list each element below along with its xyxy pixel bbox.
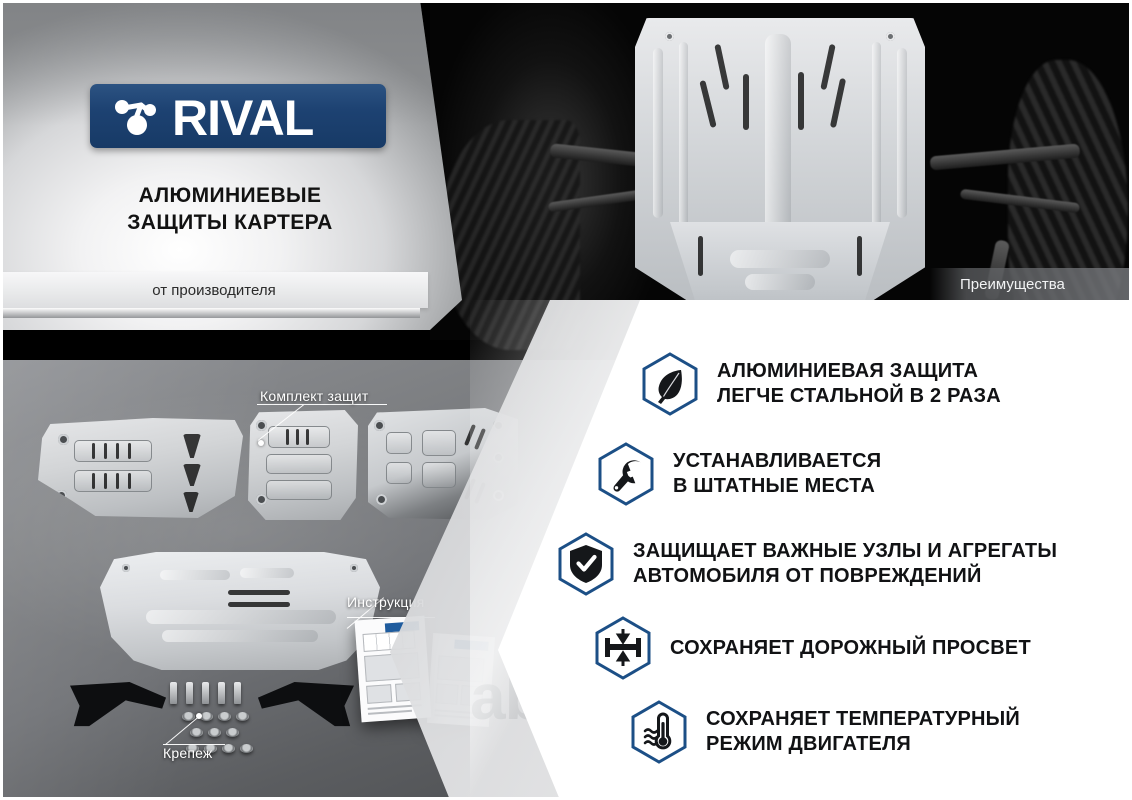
advantage-2-line1: УСТАНАВЛИВАЕТСЯ	[673, 449, 881, 474]
rival-logo: RIVAL	[90, 84, 386, 148]
advantage-text-3: ЗАЩИЩАЕТ ВАЖНЫЕ УЗЛЫ И АГРЕГАТЫ АВТОМОБИ…	[633, 539, 1057, 589]
advantage-text-4: СОХРАНЯЕТ ДОРОЖНЫЙ ПРОСВЕТ	[670, 636, 1031, 661]
advantages-tab: Преимущества	[930, 268, 1132, 300]
promo-banner: Преимущества	[0, 0, 1132, 800]
callout-line-kit-horiz	[257, 404, 387, 405]
advantage-item-4: СОХРАНЯЕТ ДОРОЖНЫЙ ПРОСВЕТ	[594, 616, 1031, 680]
advantage-item-1: АЛЮМИНИЕВАЯ ЗАЩИТА ЛЕГЧЕ СТАЛЬНОЙ В 2 РА…	[641, 352, 1001, 416]
advantage-5-line2: РЕЖИМ ДВИГАТЕЛЯ	[706, 732, 1020, 757]
advantage-1-line1: АЛЮМИНИЕВАЯ ЗАЩИТА	[717, 359, 1001, 384]
advantage-1-line2: ЛЕГЧЕ СТАЛЬНОЙ В 2 РАЗА	[717, 384, 1001, 409]
advantage-3-line2: АВТОМОБИЛЯ ОТ ПОВРЕЖДЕНИЙ	[633, 564, 1057, 589]
callout-label-fasteners: Крепеж	[163, 745, 213, 761]
callout-dot-kit	[258, 440, 264, 446]
advantages-tab-label: Преимущества	[960, 276, 1065, 293]
plate-engine-main	[100, 552, 380, 670]
shield-check-icon	[557, 532, 615, 596]
leaf-icon	[641, 352, 699, 416]
advantage-2-line2: В ШТАТНЫЕ МЕСТА	[673, 474, 881, 499]
advantage-3-line1: ЗАЩИЩАЕТ ВАЖНЫЕ УЗЛЫ И АГРЕГАТЫ	[633, 539, 1057, 564]
wrench-icon	[597, 442, 655, 506]
page-title-line1: АЛЮМИНИЕВЫЕ	[60, 182, 400, 209]
molecule-icon	[110, 96, 168, 138]
car-underbody-photo: Преимущества	[430, 0, 1132, 340]
callout-label-kit: Комплект защит	[260, 388, 368, 404]
advantage-5-line1: СОХРАНЯЕТ ТЕМПЕРАТУРНЫЙ	[706, 707, 1020, 732]
page-title-line2: ЗАЩИТЫ КАРТЕРА	[60, 209, 400, 236]
page-title: АЛЮМИНИЕВЫЕ ЗАЩИТЫ КАРТЕРА	[60, 182, 400, 236]
subtitle-text: от производителя	[0, 272, 428, 308]
advantage-text-5: СОХРАНЯЕТ ТЕМПЕРАТУРНЫЙ РЕЖИМ ДВИГАТЕЛЯ	[706, 707, 1020, 757]
advantage-4-line1: СОХРАНЯЕТ ДОРОЖНЫЙ ПРОСВЕТ	[670, 636, 1031, 661]
advantage-item-3: ЗАЩИЩАЕТ ВАЖНЫЕ УЗЛЫ И АГРЕГАТЫ АВТОМОБИ…	[557, 532, 1057, 596]
advantage-item-2: УСТАНАВЛИВАЕТСЯ В ШТАТНЫЕ МЕСТА	[597, 442, 881, 506]
clearance-arrows-icon	[594, 616, 652, 680]
advantage-item-5: СОХРАНЯЕТ ТЕМПЕРАТУРНЫЙ РЕЖИМ ДВИГАТЕЛЯ	[630, 700, 1020, 764]
plate-transfer-case	[248, 410, 358, 520]
subtitle-bar-shadow	[0, 308, 420, 318]
rival-wordmark: RIVAL	[172, 89, 313, 147]
advantage-text-2: УСТАНАВЛИВАЕТСЯ В ШТАТНЫЕ МЕСТА	[673, 449, 881, 499]
advantage-text-1: АЛЮМИНИЕВАЯ ЗАЩИТА ЛЕГЧЕ СТАЛЬНОЙ В 2 РА…	[717, 359, 1001, 409]
thermometer-icon	[630, 700, 688, 764]
